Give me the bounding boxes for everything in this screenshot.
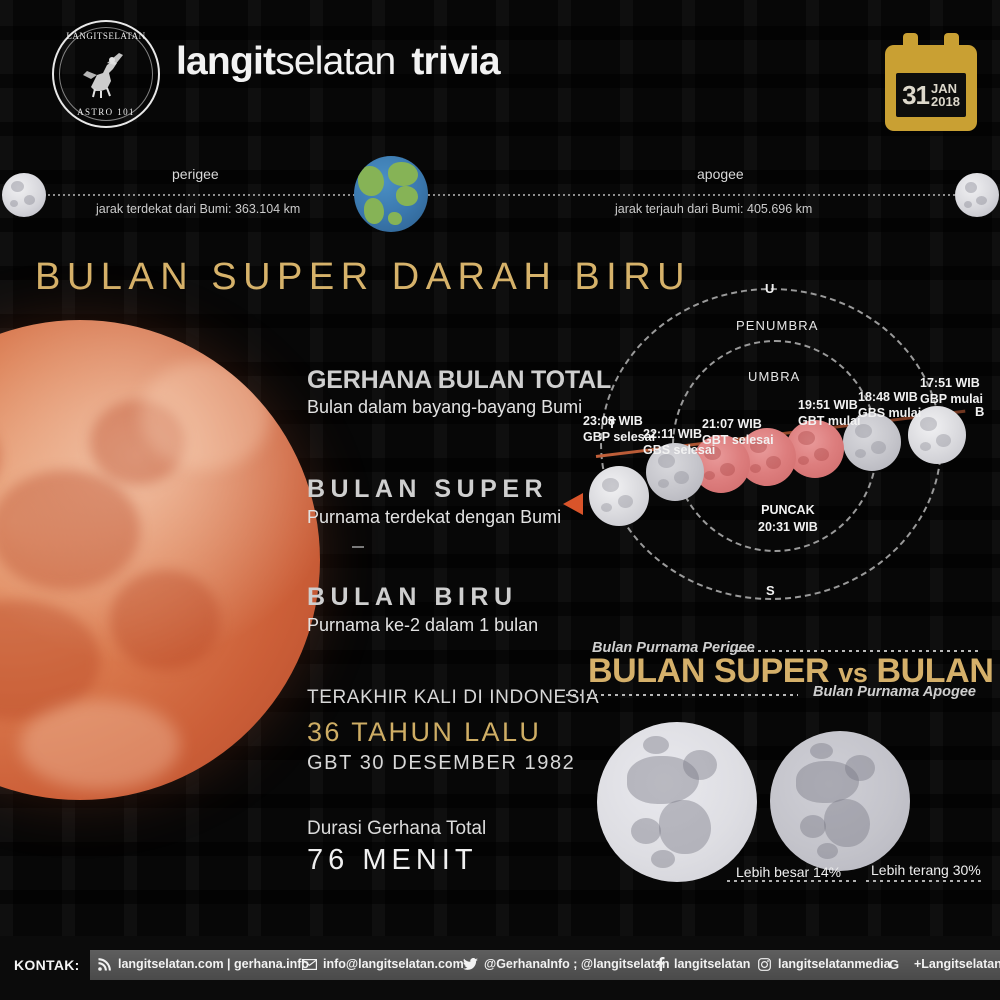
comparison-caption-rule-left <box>727 880 857 882</box>
earth-globe-icon <box>354 156 428 232</box>
infographic-page: LANGITSELATAN ASTRO 101 langitselatantri… <box>0 0 1000 1000</box>
feature-sub-bulan-super: Purnama terdekat dengan Bumi <box>307 507 561 528</box>
calendar-day: 31 <box>902 82 929 108</box>
comparison-bottom-label: Bulan Purnama Apogee <box>813 684 976 700</box>
google-plus-icon: G <box>888 957 908 971</box>
last-time-label: TERAKHIR KALI DI INDONESIA <box>307 687 599 709</box>
rss-icon <box>97 957 112 971</box>
feature-heading-bulan-super: BULAN SUPER <box>307 475 548 504</box>
brand-langit: langit <box>176 40 275 83</box>
brand-selatan: selatan <box>275 40 395 83</box>
twitter-icon <box>463 957 478 971</box>
perigee-distance: jarak terdekat dari Bumi: 363.104 km <box>96 202 300 216</box>
phase-time-3: 21:07 WIB <box>702 417 762 431</box>
perigee-label: perigee <box>172 166 219 182</box>
comparison-super-moon <box>597 722 757 882</box>
phase-label-5: 18:48 WIB GBS mulai <box>858 389 921 421</box>
perigee-moon-icon <box>2 173 46 217</box>
calendar-icon: 31 JAN 2018 <box>885 33 977 131</box>
apogee-label: apogee <box>697 166 744 182</box>
calendar-year: 2018 <box>931 95 960 108</box>
apogee-moon-icon <box>955 173 999 217</box>
phase-event-5: GBS mulai <box>858 406 921 420</box>
feature-sub-bulan-biru: Purnama ke-2 dalam 1 bulan <box>307 615 538 636</box>
footer-item-twitter[interactable]: @GerhanaInfo ; @langitselatan <box>463 957 670 971</box>
calendar-month: JAN <box>931 82 960 95</box>
peak-label: PUNCAK <box>761 503 814 517</box>
footer-kontak-label: KONTAK: <box>14 957 80 973</box>
marker-u: U <box>765 281 774 296</box>
phase-moon-1 <box>589 466 649 526</box>
phase-time-1: 23:08 WIB <box>583 414 643 428</box>
phase-time-5: 18:48 WIB <box>858 390 918 404</box>
divider-dash <box>352 546 364 548</box>
footer-googleplus-text: +LangitselatanMedia <box>914 957 1000 971</box>
phase-time-6: 17:51 WIB <box>920 376 980 390</box>
comparison-caption-rule-right <box>866 880 984 882</box>
feature-heading-bulan-biru: BULAN BIRU <box>307 583 518 612</box>
footer-item-googleplus[interactable]: G +LangitselatanMedia <box>888 957 1000 971</box>
phase-time-4: 19:51 WIB <box>798 398 858 412</box>
instagram-icon <box>757 957 772 971</box>
langitselatan-logo: LANGITSELATAN ASTRO 101 <box>52 20 160 128</box>
calendar-month-year: JAN 2018 <box>931 82 960 109</box>
footer-contact-bar: KONTAK: langitselatan.com | gerhana.info… <box>0 936 1000 1000</box>
duration-label: Durasi Gerhana Total <box>307 818 486 840</box>
calendar-body: 31 JAN 2018 <box>885 45 977 131</box>
peak-time: 20:31 WIB <box>758 520 818 534</box>
phase-event-4: GBT mulai <box>798 414 861 428</box>
footer-instagram-text: langitselatanmedia <box>778 957 891 971</box>
footer-item-website[interactable]: langitselatan.com | gerhana.info <box>97 957 309 971</box>
footer-facebook-text: langitselatan <box>674 957 750 971</box>
phase-label-6: 17:51 WIB GBP mulai <box>920 375 983 407</box>
logo-ring-top-text: LANGITSELATAN <box>54 31 158 41</box>
footer-email-text: info@langitselatan.com <box>323 957 464 971</box>
eclipse-direction-arrow-icon <box>563 493 583 515</box>
footer-website-text: langitselatan.com | gerhana.info <box>118 957 309 971</box>
svg-text:G: G <box>889 958 899 971</box>
phase-time-2: 22:11 WIB <box>643 427 702 441</box>
blood-moon-illustration <box>0 320 320 800</box>
phase-label-4: 19:51 WIB GBT mulai <box>798 397 861 429</box>
comparison-title-super: BULAN SUPER <box>588 652 829 690</box>
penumbra-label: PENUMBRA <box>736 318 818 333</box>
brand-trivia: trivia <box>411 40 499 83</box>
orbit-dashed-line <box>18 194 982 196</box>
peak-label-group: PUNCAK 20:31 WIB <box>758 502 818 536</box>
comparison-bottom-rule <box>566 694 798 696</box>
footer-item-email[interactable]: info@langitselatan.com <box>302 957 464 971</box>
footer-item-instagram[interactable]: langitselatanmedia <box>757 957 891 971</box>
umbra-label: UMBRA <box>748 369 800 384</box>
phase-event-6: GBP mulai <box>920 392 983 406</box>
feature-sub-gerhana-bulan-total: Bulan dalam bayang-bayang Bumi <box>307 397 582 418</box>
sagittarius-centaur-icon <box>77 47 135 101</box>
feature-heading-gerhana-bulan-total: GERHANA BULAN TOTAL <box>307 366 611 395</box>
phase-event-3: GBT selesai <box>702 433 774 447</box>
calendar-date-display: 31 JAN 2018 <box>896 73 966 117</box>
logo-ring-bottom-text: ASTRO 101 <box>54 107 158 117</box>
footer-item-facebook[interactable]: langitselatan <box>653 957 750 971</box>
last-time-years: 36 TAHUN LALU <box>307 717 541 748</box>
last-time-date: GBT 30 DESEMBER 1982 <box>307 752 575 775</box>
marker-s: S <box>766 583 775 598</box>
phase-label-3: 21:07 WIB GBT selesai <box>702 416 774 448</box>
duration-value: 76 MENIT <box>307 844 478 877</box>
comparison-mini-moon <box>770 731 910 871</box>
facebook-icon <box>653 957 668 971</box>
footer-twitter-text: @GerhanaInfo ; @langitselatan <box>484 957 670 971</box>
apogee-distance: jarak terjauh dari Bumi: 405.696 km <box>615 202 812 216</box>
envelope-icon <box>302 957 317 971</box>
comparison-caption-right: Lebih terang 30% <box>871 862 981 878</box>
page-title: BULAN SUPER DARAH BIRU <box>35 256 691 299</box>
comparison-caption-left: Lebih besar 14% <box>736 864 841 880</box>
brand-title: langitselatantrivia <box>176 42 500 81</box>
